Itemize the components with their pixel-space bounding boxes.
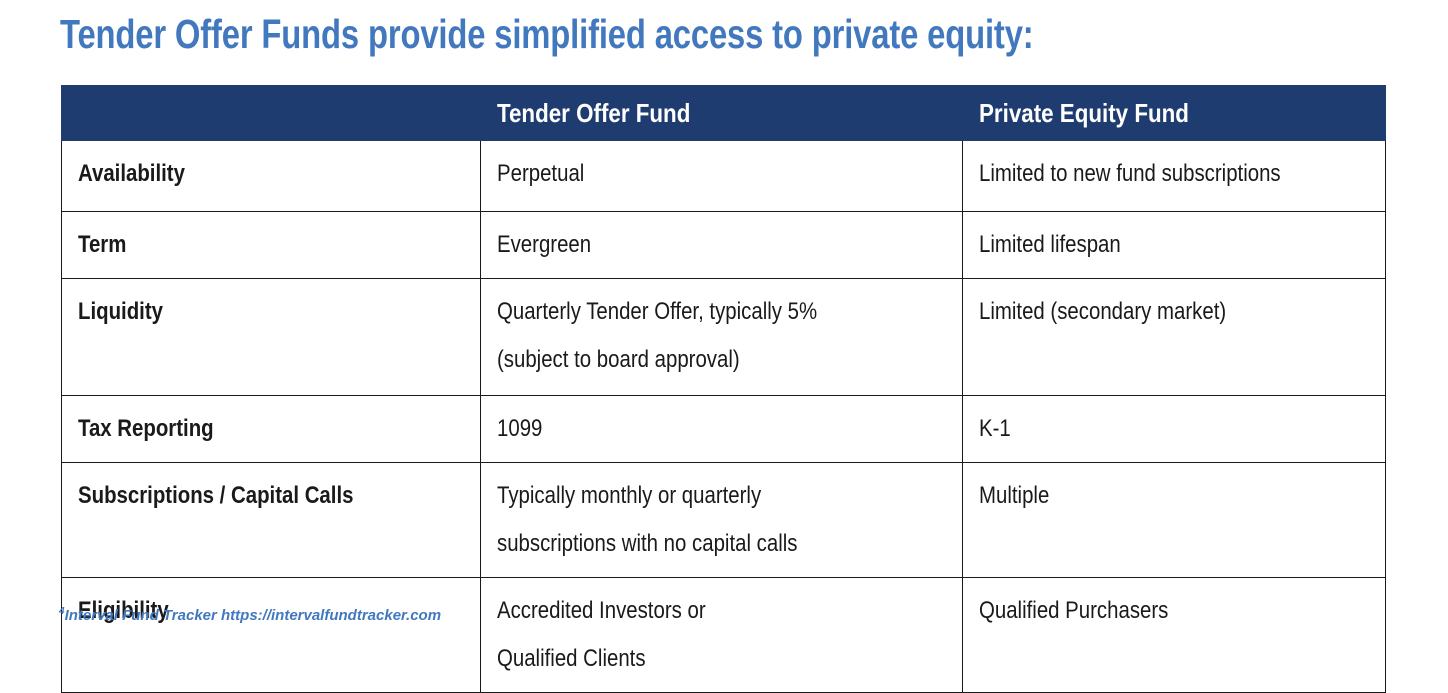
row-label-term: Term: [62, 212, 481, 279]
row-label-liquidity: Liquidity: [62, 279, 481, 396]
footnote-text: Interval Fund Tracker https://intervalfu…: [65, 607, 442, 624]
footnote: 4Interval Fund Tracker https://intervalf…: [59, 603, 441, 625]
table-header: Tender Offer Fund Private Equity Fund: [62, 86, 1386, 141]
cell-subscriptions-tender-offer-fund: Typically monthly or quarterly subscript…: [481, 463, 963, 578]
table-row-liquidity: Liquidity Quarterly Tender Offer, typica…: [62, 279, 1386, 396]
cell-term-tender-offer-fund: Evergreen: [481, 212, 963, 279]
table-row-tax-reporting: Tax Reporting 1099 K-1: [62, 396, 1386, 463]
table-row-term: Term Evergreen Limited lifespan: [62, 212, 1386, 279]
table-row-subscriptions-capital-calls: Subscriptions / Capital Calls Typically …: [62, 463, 1386, 578]
row-label-availability: Availability: [62, 141, 481, 212]
row-label-eligibility: Eligibility: [62, 578, 481, 693]
row-label-tax-reporting: Tax Reporting: [62, 396, 481, 463]
cell-term-private-equity-fund: Limited lifespan: [963, 212, 1386, 279]
table-row-availability: Availability Perpetual Limited to new fu…: [62, 141, 1386, 212]
column-header-private-equity-fund-text: Private Equity Fund: [979, 86, 1189, 140]
column-header-label: [62, 86, 481, 141]
cell-availability-private-equity-fund: Limited to new fund subscriptions: [963, 141, 1386, 212]
column-header-tender-offer-fund: Tender Offer Fund: [481, 86, 963, 141]
cell-tax-reporting-private-equity-fund: K-1: [963, 396, 1386, 463]
column-header-private-equity-fund: Private Equity Fund: [963, 86, 1386, 141]
comparison-table: Tender Offer Fund Private Equity Fund Av…: [61, 85, 1386, 693]
cell-eligibility-private-equity-fund: Qualified Purchasers: [963, 578, 1386, 693]
row-label-subscriptions-capital-calls: Subscriptions / Capital Calls: [62, 463, 481, 578]
cell-subscriptions-private-equity-fund: Multiple: [963, 463, 1386, 578]
cell-liquidity-private-equity-fund: Limited (secondary market): [963, 279, 1386, 396]
cell-eligibility-tender-offer-fund: Accredited Investors or Qualified Client…: [481, 578, 963, 693]
table-header-row: Tender Offer Fund Private Equity Fund: [62, 86, 1386, 141]
cell-availability-tender-offer-fund: Perpetual: [481, 141, 963, 212]
page-title: Tender Offer Funds provide simplified ac…: [60, 8, 1132, 60]
cell-liquidity-tender-offer-fund: Quarterly Tender Offer, typically 5% (su…: [481, 279, 963, 396]
column-header-tender-offer-fund-text: Tender Offer Fund: [497, 86, 690, 140]
cell-tax-reporting-tender-offer-fund: 1099: [481, 396, 963, 463]
table-row-eligibility: Eligibility Accredited Investors or Qual…: [62, 578, 1386, 693]
